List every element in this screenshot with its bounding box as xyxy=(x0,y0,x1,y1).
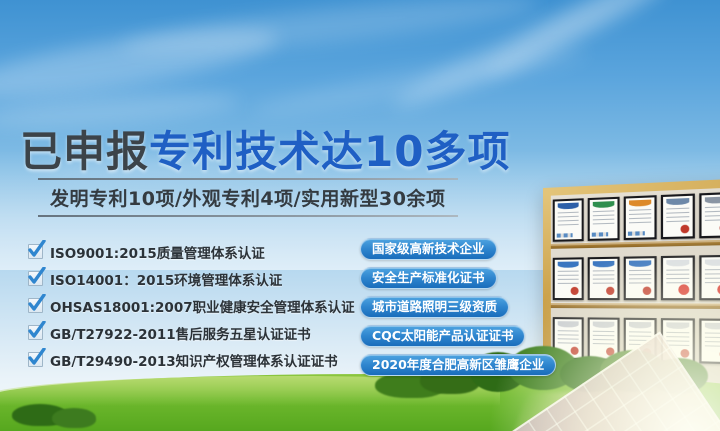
list-item-label: GB/T29490-2013知识产权管理体系认证证书 xyxy=(50,350,338,370)
certificate-frame xyxy=(661,255,695,300)
certificate-frame xyxy=(553,257,584,300)
certification-checklist: ISO9001:2015质量管理体系认证 ISO14001：2015环境管理体系… xyxy=(28,238,355,373)
status-badge: 2020年度合肥高新区雏鹰企业 xyxy=(360,354,556,376)
status-badge: 城市道路照明三级资质 xyxy=(360,296,509,318)
cloud-wisp xyxy=(387,0,673,120)
certificate-frame xyxy=(624,195,657,240)
certificate-frame xyxy=(699,255,720,301)
certificate-frame xyxy=(661,194,695,240)
certificate-frame xyxy=(588,257,620,300)
subtitle-block: 发明专利10项/外观专利4项/实用新型30余项 xyxy=(38,178,458,217)
status-badge: 安全生产标准化证书 xyxy=(360,267,497,289)
certificate-frame xyxy=(699,192,720,238)
list-item: ISO9001:2015质量管理体系认证 xyxy=(28,238,355,265)
list-item: GB/T29490-2013知识产权管理体系认证证书 xyxy=(28,346,355,373)
list-item-label: GB/T27922-2011售后服务五星认证证书 xyxy=(50,323,311,343)
qualification-badges: 国家级高新技术企业 安全生产标准化证书 城市道路照明三级资质 CQC太阳能产品认… xyxy=(360,238,556,383)
cloud-wisp xyxy=(0,15,282,110)
check-icon xyxy=(28,325,43,340)
check-icon xyxy=(28,244,43,259)
page-title: 已申报专利技术达10多项 xyxy=(20,118,510,179)
subtitle-rule-top xyxy=(38,178,458,180)
list-item: ISO14001：2015环境管理体系认证 xyxy=(28,265,355,292)
list-item-label: ISO14001：2015环境管理体系认证 xyxy=(50,269,282,289)
check-icon xyxy=(28,271,43,286)
check-icon xyxy=(28,352,43,367)
promo-banner: 已申报专利技术达10多项 发明专利10项/外观专利4项/实用新型30余项 ISO… xyxy=(0,0,720,431)
shrub xyxy=(52,408,96,428)
cloud-wisp xyxy=(250,41,589,124)
headline-dark-text: 已申报 xyxy=(20,127,149,176)
certificate-frame xyxy=(588,197,620,241)
headline-blue-text: 专利技术达10多项 xyxy=(149,127,510,176)
subtitle-text: 发明专利10项/外观专利4项/实用新型30余项 xyxy=(38,180,458,215)
status-badge: 国家级高新技术企业 xyxy=(360,238,497,260)
certificate-frame xyxy=(553,198,584,241)
status-badge: CQC太阳能产品认证证书 xyxy=(360,325,525,347)
list-item: OHSAS18001:2007职业健康安全管理体系认证 xyxy=(28,292,355,319)
certificate-frame xyxy=(699,318,720,364)
list-item: GB/T27922-2011售后服务五星认证证书 xyxy=(28,319,355,346)
list-item-label: OHSAS18001:2007职业健康安全管理体系认证 xyxy=(50,296,355,316)
certificate-frame xyxy=(624,256,657,300)
cloud-wisp xyxy=(480,0,701,84)
list-item-label: ISO9001:2015质量管理体系认证 xyxy=(50,242,265,262)
subtitle-rule-bottom xyxy=(38,215,458,217)
cloud-wisp xyxy=(119,0,540,64)
check-icon xyxy=(28,298,43,313)
